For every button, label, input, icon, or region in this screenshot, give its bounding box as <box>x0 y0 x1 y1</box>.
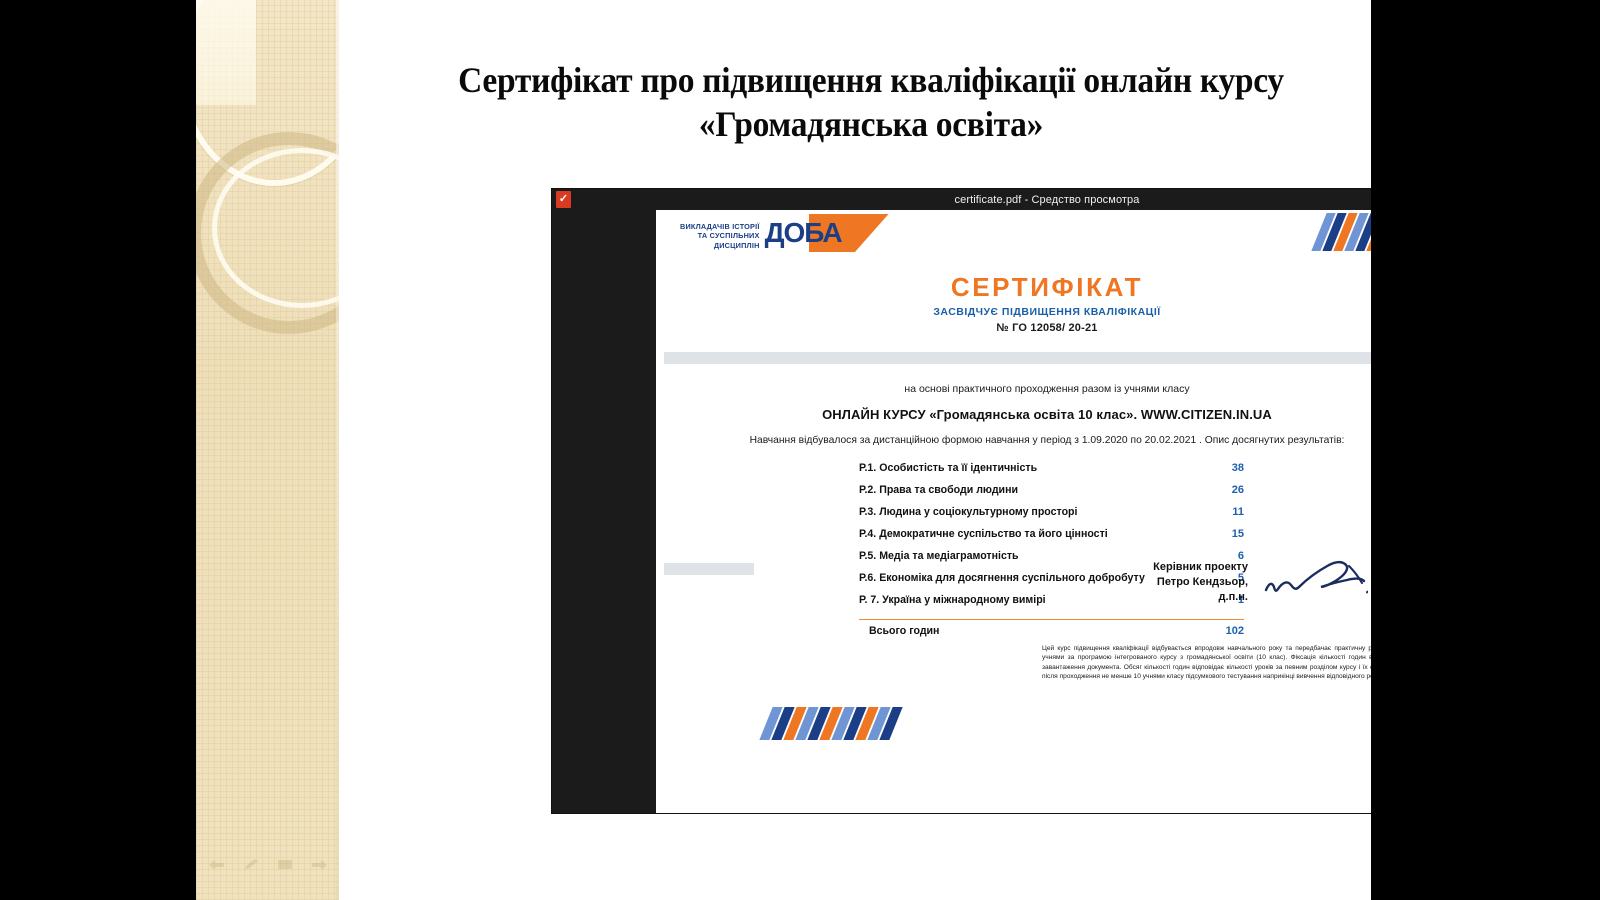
certificate-heading: СЕРТИФІКАТ ЗАСВІДЧУЄ ПІДВИЩЕННЯ КВАЛІФІК… <box>656 272 1371 334</box>
fineprint-text: Цей курс підвищення кваліфікації відбува… <box>1042 644 1371 682</box>
certificate-subtitle: ЗАСВІДЧУЄ ПІДВИЩЕННЯ КВАЛІФІКАЦІЇ <box>656 306 1371 318</box>
certificate-page: ВИКЛАДАЧІВ ІСТОРІЇ ТА СУСПІЛЬНИХ ДИСЦИПЛ… <box>656 210 1371 813</box>
doba-logo: ВИКЛАДАЧІВ ІСТОРІЇ ТА СУСПІЛЬНИХ ДИСЦИПЛ… <box>680 214 885 252</box>
module-row: Р.4. Демократичне суспільство та його ці… <box>859 528 1244 550</box>
module-row: Р.3. Людина у соціокультурному просторі1… <box>859 506 1244 528</box>
certificate-fineprint: Цей курс підвищення кваліфікації відбува… <box>1042 644 1371 682</box>
certificate-period: Навчання відбувалося за дистанційною фор… <box>656 435 1371 446</box>
pdf-viewer-canvas[interactable]: ВИКЛАДАЧІВ ІСТОРІЇ ТА СУСПІЛЬНИХ ДИСЦИПЛ… <box>552 210 1371 813</box>
module-name: Р. 7. Україна у міжнародному вимірі <box>859 594 1046 606</box>
slide-nav-icons <box>200 858 336 872</box>
module-row: Р.2. Права та свободи людини26 <box>859 484 1244 506</box>
presentation-slide: Сертифікат про підвищення кваліфікації о… <box>196 0 1371 900</box>
module-hours: 11 <box>1232 506 1244 518</box>
module-hours: 26 <box>1232 484 1244 496</box>
module-name: Р.3. Людина у соціокультурному просторі <box>859 506 1077 518</box>
module-name: Р.1. Особистість та її ідентичність <box>859 462 1037 474</box>
window-title: certificate.pdf - Средство просмотра <box>552 194 1371 206</box>
modules-table: Р.1. Особистість та її ідентичність38Р.2… <box>859 462 1244 647</box>
module-name: Р.2. Права та свободи людини <box>859 484 1018 496</box>
logo-line-3: ДИСЦИПЛІН <box>680 241 760 251</box>
stripes-bottom-left <box>766 707 896 740</box>
theme-panel-edge <box>336 0 339 900</box>
stripes-top-right <box>1319 213 1371 251</box>
module-row: Р.1. Особистість та її ідентичність38 <box>859 462 1244 484</box>
total-label: Всього годин <box>859 625 939 637</box>
logo-wordmark: ДОБА <box>765 217 842 249</box>
pen-icon[interactable] <box>242 858 260 872</box>
pdf-viewer-window[interactable]: ✓ certificate.pdf - Средство просмотра –… <box>552 189 1371 813</box>
signature-text: Керівник проекту Петро Кендзьор, д.п.н. <box>1088 560 1248 605</box>
screen: Сертифікат про підвищення кваліфікації о… <box>0 0 1600 900</box>
logo-line-2: ТА СУСПІЛЬНИХ <box>680 231 760 241</box>
logo-line-1: ВИКЛАДАЧІВ ІСТОРІЇ <box>680 222 760 232</box>
comment-icon[interactable] <box>276 858 294 872</box>
gray-band <box>664 352 1371 364</box>
certificate-course: ОНЛАЙН КУРСУ «Громадянська освіта 10 кла… <box>656 407 1371 422</box>
module-name: Р.5. Медіа та медіаграмотність <box>859 550 1019 562</box>
module-hours: 38 <box>1232 462 1244 474</box>
module-name: Р.4. Демократичне суспільство та його ці… <box>859 528 1108 540</box>
forward-arrow-icon[interactable] <box>310 858 328 872</box>
signature-degree: д.п.н. <box>1088 590 1248 605</box>
handwritten-signature-icon <box>1263 556 1371 608</box>
signature-name: Петро Кендзьор, <box>1088 575 1248 590</box>
certificate-intro: на основі практичного проходження разом … <box>656 383 1371 395</box>
gray-box-left <box>664 563 754 575</box>
total-hours: 102 <box>1226 625 1244 637</box>
slide-title: Сертифікат про підвищення кваліфікації о… <box>439 58 1304 146</box>
signature-block: Керівник проекту Петро Кендзьор, д.п.н. <box>1088 560 1371 605</box>
certificate-number: № ГО 12058/ 20-21 <box>656 322 1371 334</box>
module-hours: 15 <box>1232 528 1244 540</box>
slide-theme-panel <box>196 0 339 900</box>
logo-mark: ДОБА <box>765 214 885 252</box>
signature-role: Керівник проекту <box>1088 560 1248 575</box>
certificate-title: СЕРТИФІКАТ <box>656 272 1371 303</box>
back-arrow-icon[interactable] <box>208 858 226 872</box>
window-titlebar[interactable]: ✓ certificate.pdf - Средство просмотра –… <box>552 189 1371 210</box>
logo-subtitle: ВИКЛАДАЧІВ ІСТОРІЇ ТА СУСПІЛЬНИХ ДИСЦИПЛ… <box>680 222 760 253</box>
